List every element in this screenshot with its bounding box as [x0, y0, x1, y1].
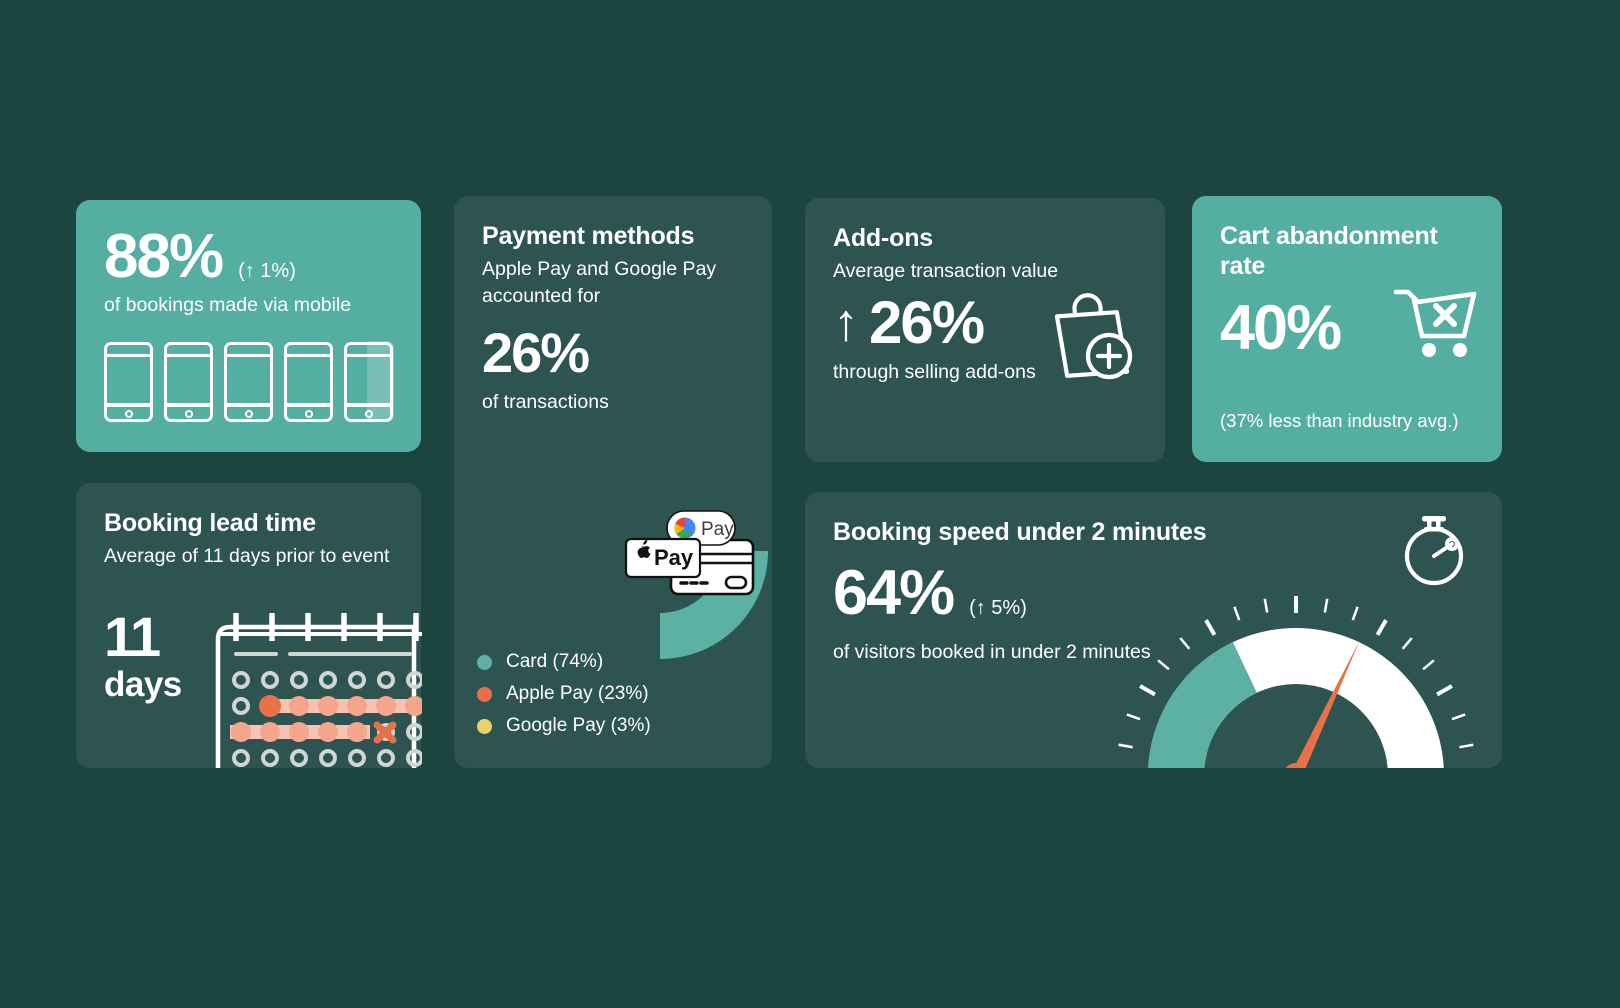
- gauge-arc-value: [1148, 642, 1257, 768]
- addons-title: Add-ons: [833, 224, 1137, 254]
- legend-label-google-pay: Google Pay (3%): [506, 715, 651, 737]
- phone-icon: [284, 342, 333, 422]
- mobile-stat-row: 88% (↑ 1%): [104, 226, 393, 288]
- speed-title: Booking speed under 2 minutes: [833, 518, 1263, 548]
- calendar-icon: [204, 611, 422, 769]
- mobile-delta: (↑ 1%): [238, 260, 296, 283]
- card-cart-abandonment: Cart abandonment rate 40% (37% less than…: [1192, 196, 1502, 462]
- cart-remove-icon: [1392, 284, 1484, 366]
- speed-delta: (↑ 5%): [969, 597, 1027, 620]
- payment-badges-group: Pay Pay: [614, 507, 764, 607]
- mobile-caption: of bookings made via mobile: [104, 292, 393, 320]
- legend-dot-card: [477, 655, 492, 670]
- legend-label-apple-pay: Apple Pay (23%): [506, 683, 649, 705]
- mobile-value: 88%: [104, 226, 222, 288]
- home-button-icon: [305, 410, 313, 418]
- card-addons: Add-ons Average transaction value ↑ 26% …: [805, 198, 1165, 462]
- legend-dot-apple-pay: [477, 687, 492, 702]
- home-button-icon: [245, 410, 253, 418]
- card-mobile-bookings: 88% (↑ 1%) of bookings made via mobile: [76, 200, 421, 452]
- card-booking-speed: Booking speed under 2 minutes 64% (↑ 5%)…: [805, 492, 1502, 768]
- lead-time-title: Booking lead time: [104, 509, 393, 539]
- cart-title: Cart abandonment rate: [1220, 222, 1474, 281]
- speed-value: 64%: [833, 562, 953, 625]
- legend-item-card[interactable]: Card (74%): [477, 651, 651, 673]
- home-button-icon: [125, 410, 133, 418]
- phone-icon: [224, 342, 273, 422]
- phone-partial-overlay: [367, 341, 394, 422]
- phone-icon-group: [104, 342, 393, 422]
- payment-title: Payment methods: [482, 222, 744, 252]
- arrow-up-icon: ↑: [833, 297, 859, 349]
- legend-dot-google-pay: [477, 719, 492, 734]
- google-pay-label: Pay: [701, 519, 734, 540]
- cart-note: (37% less than industry avg.): [1220, 410, 1459, 432]
- google-g-glyph: [674, 518, 695, 539]
- payment-value: 26%: [482, 325, 744, 381]
- payment-legend: Card (74%) Apple Pay (23%) Google Pay (3…: [477, 651, 651, 747]
- home-button-icon: [185, 410, 193, 418]
- infographic-board: 88% (↑ 1%) of bookings made via mobile B…: [0, 0, 1620, 1008]
- legend-item-google-pay[interactable]: Google Pay (3%): [477, 715, 651, 737]
- phone-icon: [104, 342, 153, 422]
- donut-slice-google-pay: [627, 443, 660, 492]
- addons-subtitle: Average transaction value: [833, 258, 1137, 286]
- shopping-bag-plus-icon: [1049, 290, 1135, 382]
- legend-label-card: Card (74%): [506, 651, 603, 673]
- lead-time-subtitle: Average of 11 days prior to event: [104, 543, 393, 571]
- apple-pay-label: Pay: [654, 545, 694, 570]
- payment-subtitle: Apple Pay and Google Pay accounted for: [482, 256, 744, 311]
- apple-pay-icon: Pay: [626, 539, 700, 577]
- addons-value: 26%: [869, 293, 983, 353]
- payment-caption: of transactions: [482, 389, 744, 417]
- phone-icon: [164, 342, 213, 422]
- stopwatch-icon: [1398, 514, 1470, 588]
- booking-speed-gauge-chart: [1100, 580, 1492, 768]
- legend-item-apple-pay[interactable]: Apple Pay (23%): [477, 683, 651, 705]
- phone-icon-partial: [344, 342, 393, 422]
